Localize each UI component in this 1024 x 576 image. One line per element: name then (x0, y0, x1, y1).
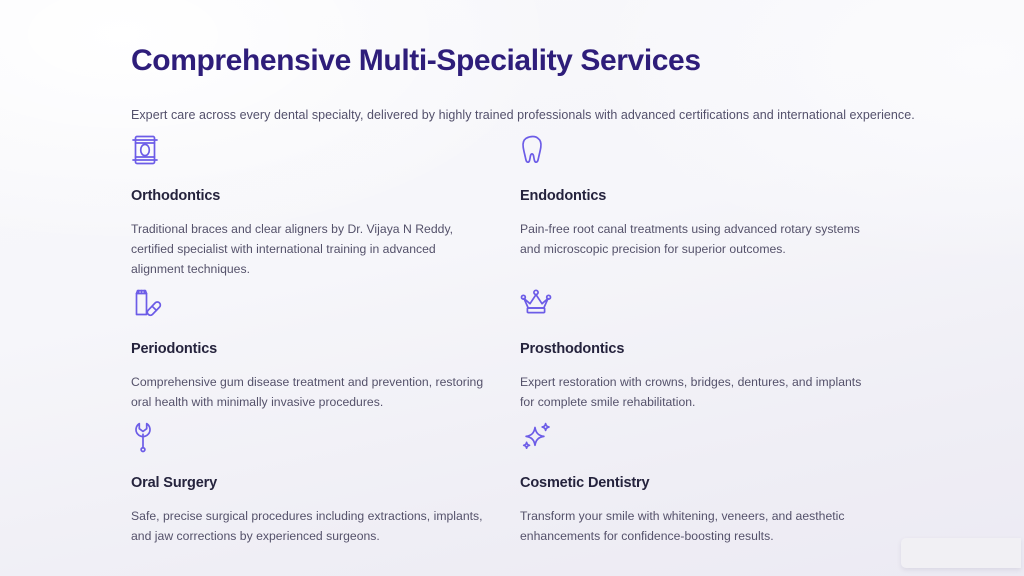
service-card-orthodontics[interactable]: Orthodontics Traditional braces and clea… (131, 132, 520, 285)
service-title: Oral Surgery (131, 473, 502, 493)
services-page: Comprehensive Multi-Speciality Services … (0, 0, 1024, 576)
service-description: Safe, precise surgical procedures includ… (131, 506, 491, 546)
service-card-cosmetic-dentistry[interactable]: Cosmetic Dentistry Transform your smile … (520, 419, 891, 529)
service-card-endodontics[interactable]: Endodontics Pain-free root canal treatme… (520, 132, 891, 285)
service-description: Comprehensive gum disease treatment and … (131, 372, 491, 412)
services-grid: Orthodontics Traditional braces and clea… (131, 132, 891, 529)
floating-widget-panel[interactable] (901, 538, 1021, 568)
page-subtitle: Expert care across every dental specialt… (131, 106, 915, 124)
service-card-oral-surgery[interactable]: Oral Surgery Safe, precise surgical proc… (131, 419, 520, 529)
tooth-icon (520, 132, 873, 168)
service-card-prosthodontics[interactable]: Prosthodontics Expert restoration with c… (520, 285, 891, 419)
service-title: Periodontics (131, 339, 502, 359)
service-description: Expert restoration with crowns, bridges,… (520, 372, 873, 412)
service-description: Transform your smile with whitening, ven… (520, 506, 873, 546)
service-title: Prosthodontics (520, 339, 873, 359)
service-title: Cosmetic Dentistry (520, 473, 873, 493)
sparkles-icon (520, 419, 873, 455)
service-description: Traditional braces and clear aligners by… (131, 219, 491, 279)
braces-bracket-icon (131, 132, 502, 168)
crown-icon (520, 285, 873, 321)
service-title: Orthodontics (131, 186, 502, 206)
page-title: Comprehensive Multi-Speciality Services (131, 42, 701, 80)
service-description: Pain-free root canal treatments using ad… (520, 219, 873, 259)
service-title: Endodontics (520, 186, 873, 206)
wrench-icon (131, 419, 502, 455)
service-card-periodontics[interactable]: Periodontics Comprehensive gum disease t… (131, 285, 520, 419)
toothpaste-tube-icon (131, 285, 502, 321)
